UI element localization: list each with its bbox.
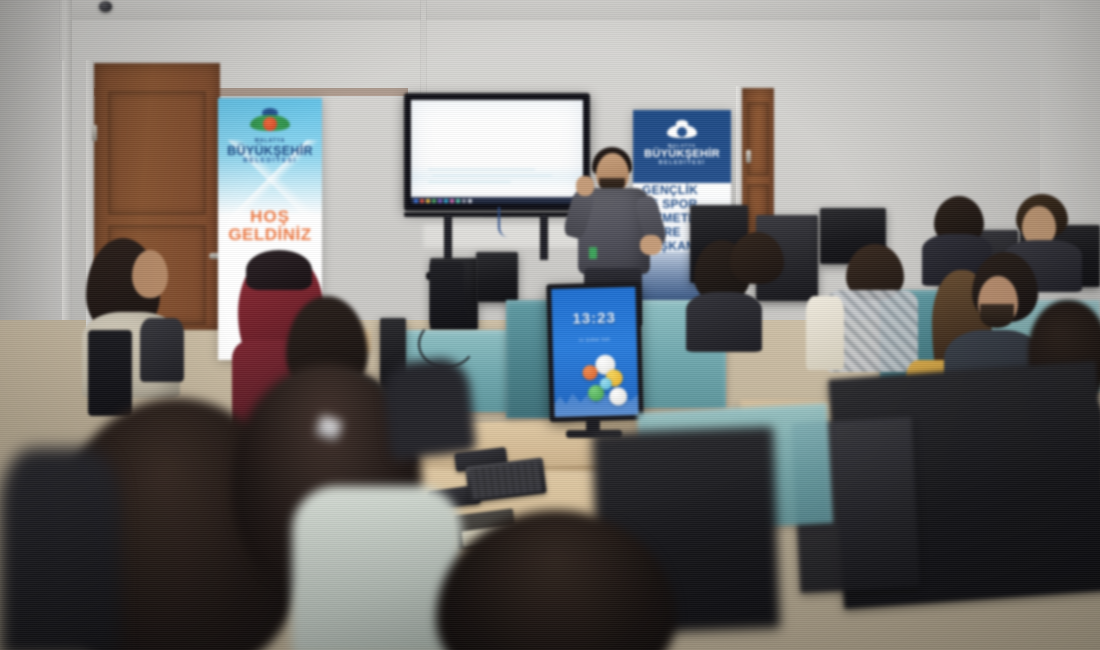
student-monitor-lockscreen[interactable]: 13:23 11 Şubat Salı: [546, 282, 644, 422]
lockscreen-clock: 13:23: [552, 309, 636, 328]
presenter-left-hand: [576, 176, 594, 196]
beard: [980, 304, 1014, 328]
panel-taskbar: [411, 197, 583, 204]
panel-screen-content: [411, 100, 583, 204]
presenter-right-hand: [640, 235, 662, 255]
banner-left-org-main: BÜYÜKŞEHİR: [218, 145, 322, 158]
banner-right-org-sub: BELEDİYESİ: [633, 161, 731, 167]
banner-left-headline-1: HOŞ: [218, 208, 322, 225]
interactive-flat-panel[interactable]: SAMSUNG: [404, 93, 590, 211]
banner-right-dept-1: GENÇLİK: [633, 184, 731, 196]
cable-conduit: [421, 0, 426, 95]
cable-conduit-left: [60, 0, 64, 60]
chair-2: [430, 262, 464, 326]
ceiling-camera-icon: [99, 1, 112, 12]
display-power-cable: [498, 207, 514, 237]
ceiling: [0, 0, 1100, 20]
display-stand-top-bar: [404, 212, 590, 217]
banner-left-headline-2: GELDİNİZ: [218, 226, 322, 243]
monitor-screen: 13:23 11 Şubat Salı: [551, 287, 638, 417]
banner-right-org-main: BÜYÜKŞEHİR: [633, 149, 731, 160]
lockscreen-date: 11 Şubat Salı: [553, 336, 637, 343]
monitor-back-2: [476, 252, 518, 302]
banner-left-org-sub: BELEDİYESİ: [218, 158, 322, 165]
presenter-badge: [589, 247, 597, 259]
display-stand-post-right: [540, 215, 548, 260]
classroom-photo-scene: MALATYA BÜYÜKŞEHİR BELEDİYESİ HOŞ GELDİN…: [0, 0, 1100, 650]
chair-1: [88, 330, 132, 416]
